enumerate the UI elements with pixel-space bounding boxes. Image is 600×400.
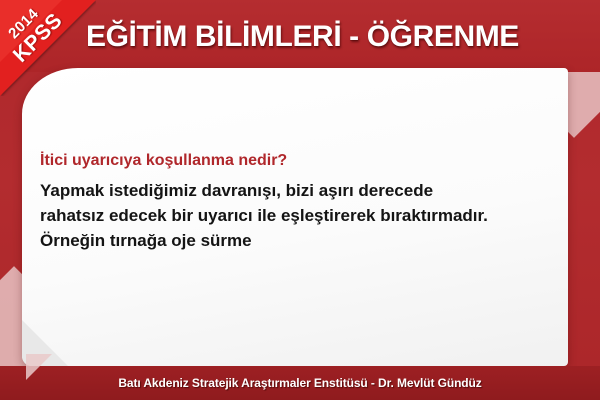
page-title: EĞİTİM BİLİMLERİ - ÖĞRENME	[86, 14, 556, 60]
slide-canvas: EĞİTİM BİLİMLERİ - ÖĞRENME 2014 KPSS İti…	[0, 0, 600, 400]
content-body: İtici uyarıcıya koşullanma nedir? Yapmak…	[40, 150, 545, 253]
answer-line: Örneğin tırnağa oje sürme	[40, 228, 545, 253]
footer-credit: Batı Akdeniz Stratejik Araştırmaler Enst…	[0, 366, 600, 400]
answer-line: Yapmak istediğimiz davranışı, bizi aşırı…	[40, 178, 545, 203]
answer-line: rahatsız edecek bir uyarıcı ile eşleştir…	[40, 203, 545, 228]
question-text: İtici uyarıcıya koşullanma nedir?	[40, 150, 545, 172]
answer-text: Yapmak istediğimiz davranışı, bizi aşırı…	[40, 178, 545, 253]
